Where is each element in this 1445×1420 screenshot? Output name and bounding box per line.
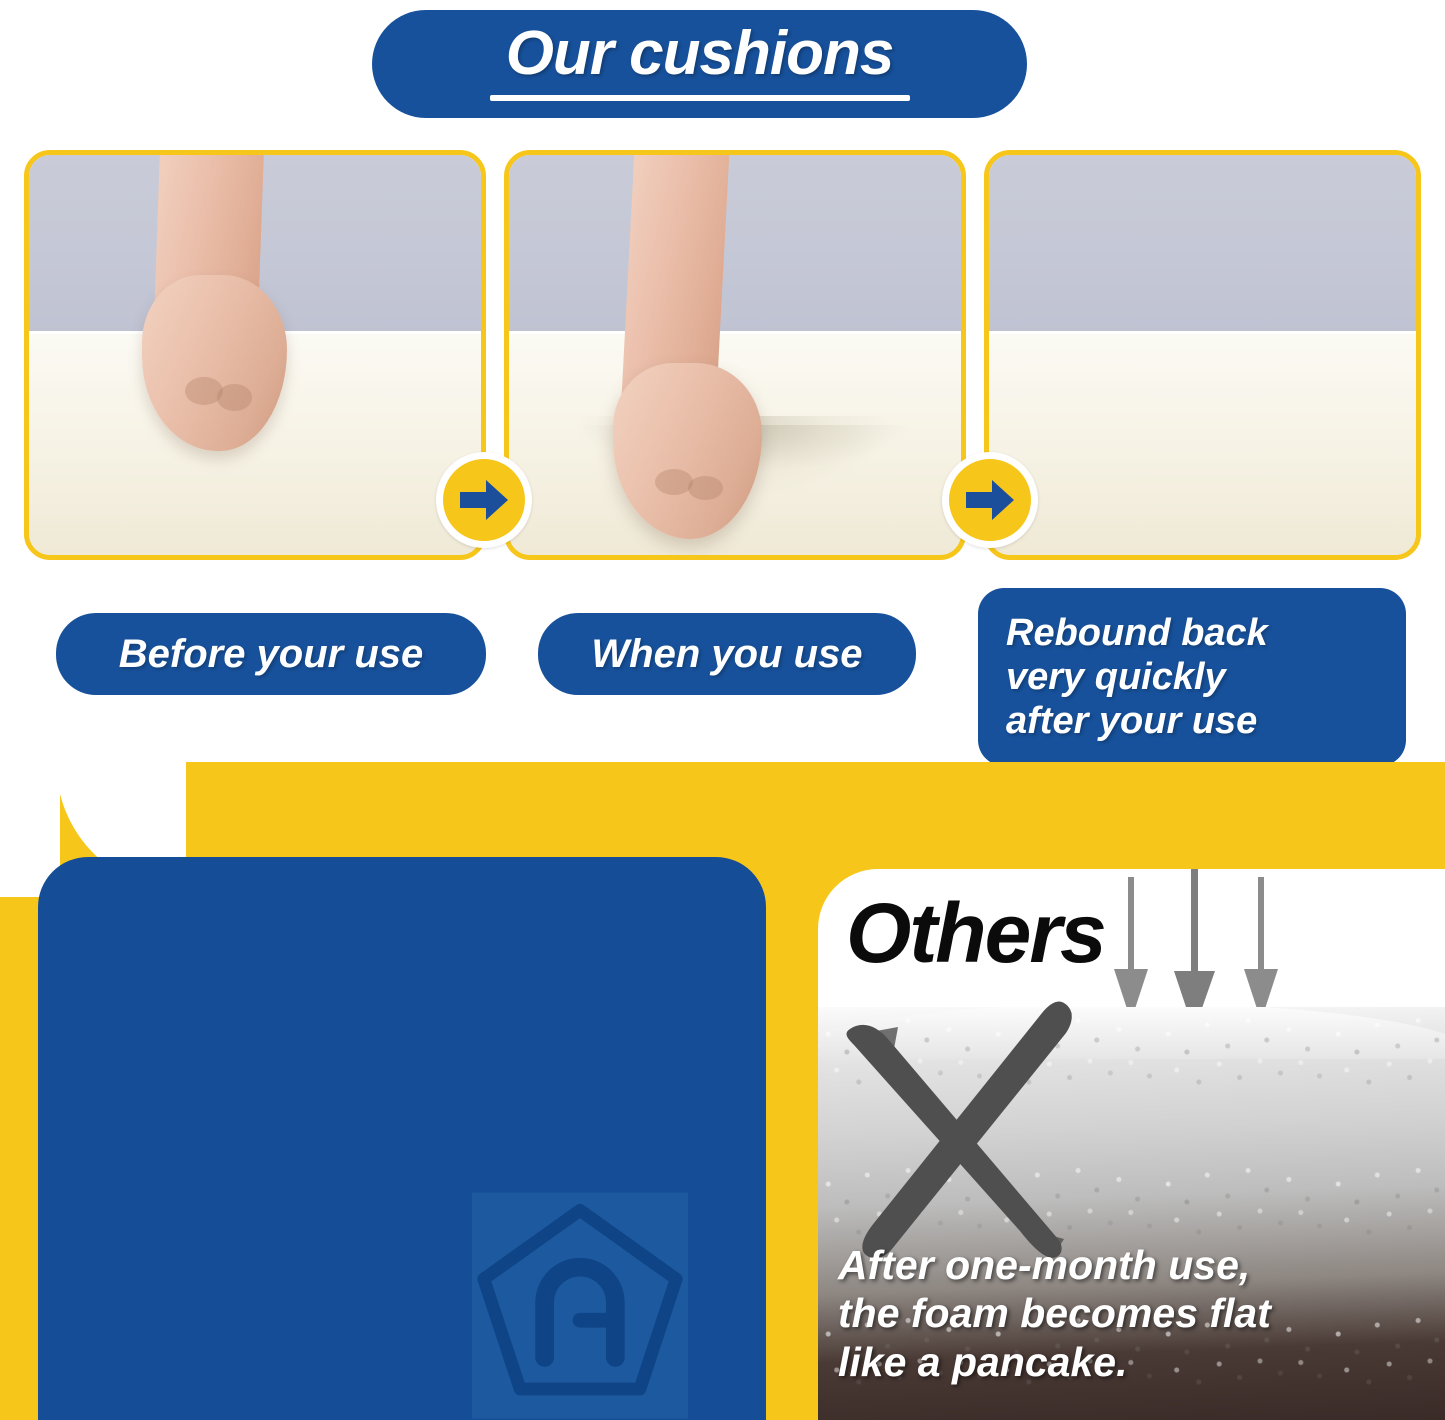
comparison-photo-row	[0, 150, 1445, 565]
step-photo-during	[504, 150, 966, 560]
step-photo-before	[24, 150, 486, 560]
others-caption-line-1: After one-month use,	[838, 1241, 1438, 1289]
arrow-right-icon	[458, 478, 510, 522]
arrow-down-icon	[1174, 869, 1215, 1029]
others-title: Others	[846, 891, 1105, 975]
step-arrow-badge-2	[942, 452, 1038, 548]
knuckle-crease	[688, 476, 724, 501]
step-label-text: When you use	[591, 632, 862, 677]
pressure-arrows-group	[1098, 869, 1298, 1029]
step-label-line-3: after your use	[1006, 699, 1257, 743]
step-label-text: Before your use	[119, 632, 424, 677]
knuckle-crease	[217, 384, 252, 410]
step-arrow-badge-1	[436, 452, 532, 548]
foam-top-edge	[989, 331, 1416, 334]
foam-slab	[989, 331, 1416, 555]
foam-top-edge	[509, 331, 961, 334]
step-photo-after	[984, 150, 1421, 560]
photo-background-wall	[509, 155, 961, 339]
arrow-right-icon	[964, 478, 1016, 522]
others-caption-line-3: like a pancake.	[838, 1338, 1438, 1386]
others-caption: After one-month use, the foam becomes fl…	[838, 1241, 1438, 1386]
photo-background-wall	[989, 155, 1416, 339]
step-label-after: Rebound back very quickly after your use	[978, 588, 1406, 766]
step-label-before: Before your use	[56, 613, 486, 695]
step-label-line-1: Rebound back	[1006, 611, 1268, 655]
pentagon-home-logo-icon	[472, 1191, 688, 1420]
page-title: Our cushions	[506, 23, 894, 85]
others-comparison-card: Others After one-month use, the f	[818, 869, 1445, 1420]
step-label-line-2: very quickly	[1006, 655, 1226, 699]
others-caption-line-2: the foam becomes flat	[838, 1289, 1438, 1337]
arrow-down-icon	[1244, 877, 1278, 1021]
page-title-banner: Our cushions	[372, 10, 1027, 118]
title-underline	[490, 95, 910, 101]
x-mark-icon	[828, 987, 1128, 1277]
step-label-during: When you use	[538, 613, 916, 695]
